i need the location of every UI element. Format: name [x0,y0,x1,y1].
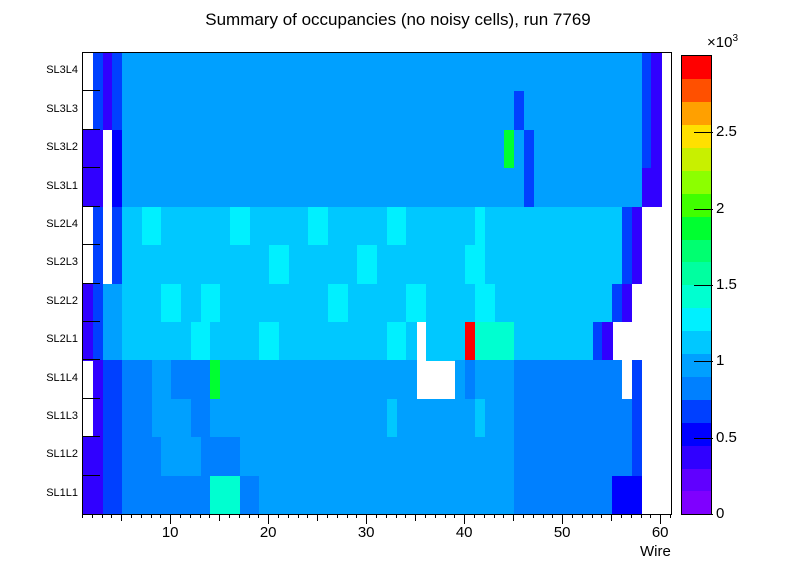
heatmap-cell [240,284,250,323]
color-bar-segment [682,239,711,262]
heatmap-cell [161,284,171,323]
heatmap-cell [279,130,289,169]
heatmap-cell [642,91,652,130]
heatmap-cell [642,168,652,207]
heatmap-cell [632,91,642,130]
heatmap-cell [230,53,240,92]
heatmap-cell [544,360,554,399]
heatmap-cell [495,360,505,399]
heatmap-cell [93,360,103,399]
x-axis-tick [415,515,416,521]
heatmap-cell [299,437,309,476]
heatmap-cell [651,130,661,169]
heatmap-cell [240,322,250,361]
heatmap-cell [142,207,152,246]
heatmap-cell [338,437,348,476]
heatmap-cell [651,53,661,92]
heatmap-cell [308,476,318,515]
heatmap-cell [465,91,475,130]
heatmap-cell [269,168,279,207]
heatmap-cell [514,399,524,438]
x-axis-tick [435,515,436,518]
x-axis-tick [572,515,573,518]
heatmap-cell [328,245,338,284]
heatmap-cell [201,245,211,284]
x-axis-tick [621,515,622,518]
heatmap-cell [152,207,162,246]
heatmap-cell [504,91,514,130]
heatmap-cell [544,207,554,246]
heatmap-cell [112,399,122,438]
x-axis-tick [337,515,338,518]
heatmap-cell [573,53,583,92]
heatmap-cell [534,284,544,323]
x-axis-tick [562,515,563,524]
heatmap-cell [269,360,279,399]
x-axis-tick [523,515,524,518]
heatmap-cell [171,207,181,246]
heatmap-cell [446,245,456,284]
x-axis-tick [660,515,661,524]
heatmap-cell [397,130,407,169]
x-axis-tick [376,515,377,518]
heatmap-cell [299,91,309,130]
heatmap-cell [299,168,309,207]
heatmap-cell [338,207,348,246]
heatmap-cell [602,53,612,92]
heatmap-cell [416,53,426,92]
heatmap-cell [289,207,299,246]
color-bar-segment [682,400,711,423]
heatmap-cell [308,168,318,207]
heatmap-cell [495,207,505,246]
heatmap-cell [475,207,485,246]
heatmap-cell [210,476,220,515]
heatmap-cell [397,245,407,284]
heatmap-cell [367,476,377,515]
heatmap-cell [181,399,191,438]
heatmap-cell [622,207,632,246]
heatmap-cell [328,360,338,399]
heatmap-cell [406,284,416,323]
heatmap-cell [465,399,475,438]
heatmap-cell [387,322,397,361]
heatmap-cell [152,245,162,284]
heatmap-cell [583,476,593,515]
heatmap-cell [377,322,387,361]
heatmap-cell [485,437,495,476]
heatmap-cell [495,245,505,284]
x-axis-tick [209,515,210,518]
heatmap-cell [475,245,485,284]
heatmap-cell [132,322,142,361]
heatmap-cell [573,360,583,399]
heatmap-cell [495,284,505,323]
heatmap-cell [514,437,524,476]
heatmap-cell [132,168,142,207]
heatmap-cell [446,284,456,323]
heatmap-cell [318,130,328,169]
heatmap-cell [455,399,465,438]
x-axis-tick [288,515,289,518]
color-bar-segment [682,468,711,491]
heatmap-cell [181,476,191,515]
heatmap-cell [602,284,612,323]
heatmap-cell [142,399,152,438]
heatmap-cell [269,207,279,246]
heatmap-cell [112,476,122,515]
heatmap-cell [524,207,534,246]
heatmap-cell [367,91,377,130]
x-axis-tick [239,515,240,518]
heatmap-cell [397,284,407,323]
heatmap-cell [563,91,573,130]
heatmap-cell [514,322,524,361]
heatmap-cell [357,360,367,399]
heatmap-cell [544,245,554,284]
heatmap-cell [142,360,152,399]
heatmap-cell [495,399,505,438]
heatmap-cell [269,130,279,169]
heatmap-cell [357,130,367,169]
heatmap-cell [406,130,416,169]
heatmap-cell [142,284,152,323]
heatmap-cell [269,245,279,284]
heatmap-cell [475,284,485,323]
heatmap-cell [348,284,358,323]
heatmap-cell [250,245,260,284]
heatmap-cell [622,399,632,438]
color-bar-tick [694,285,713,286]
heatmap-cell [534,130,544,169]
heatmap-cell [299,476,309,515]
heatmap-cell [426,284,436,323]
heatmap-cell [171,437,181,476]
heatmap-cell [93,476,103,515]
heatmap-cell [250,53,260,92]
heatmap-cell [250,284,260,323]
heatmap-cell [201,168,211,207]
heatmap-cell [318,476,328,515]
heatmap-cell [426,437,436,476]
color-bar-segment [682,285,711,308]
heatmap-cell [524,245,534,284]
heatmap-cell [642,130,652,169]
heatmap-cell [328,437,338,476]
x-axis-tick [650,515,651,518]
heatmap-cell [475,168,485,207]
x-axis-tick [307,515,308,518]
heatmap-cell [485,91,495,130]
heatmap-cell [181,207,191,246]
heatmap-cell [122,245,132,284]
heatmap-cell [495,53,505,92]
heatmap-cell [161,53,171,92]
heatmap-cell [348,476,358,515]
heatmap-cell [220,284,230,323]
x-axis-tick [631,515,632,518]
heatmap-cell [583,437,593,476]
color-bar-segment [682,445,711,468]
heatmap-cell [397,207,407,246]
heatmap-cell [103,437,113,476]
heatmap-cell [534,360,544,399]
x-axis-tick [141,515,142,518]
heatmap-cell [112,207,122,246]
heatmap-cell [152,476,162,515]
heatmap-cell [524,360,534,399]
heatmap-cell [152,168,162,207]
x-axis-tick [170,515,171,524]
heatmap-cell [250,437,260,476]
heatmap-cell [455,437,465,476]
heatmap-cell [161,130,171,169]
heatmap-cell [387,245,397,284]
heatmap-cell [573,322,583,361]
heatmap-cell [210,360,220,399]
heatmap-cell [240,437,250,476]
heatmap-cell [544,130,554,169]
heatmap-cell [455,284,465,323]
heatmap-cell [524,284,534,323]
heatmap-cell [210,53,220,92]
heatmap-cell [269,476,279,515]
heatmap-cell [308,53,318,92]
heatmap-cell [583,168,593,207]
heatmap-cell [230,360,240,399]
heatmap-cell [201,130,211,169]
heatmap-cell [299,207,309,246]
heatmap-cell [632,437,642,476]
heatmap-cell [632,399,642,438]
x-axis-tick [249,515,250,518]
heatmap-cell [593,130,603,169]
heatmap-cell [161,168,171,207]
heatmap-cell [318,284,328,323]
heatmap-cell [152,130,162,169]
heatmap-cell [563,476,573,515]
x-axis-tick-labels: 102030405060 [0,524,796,544]
heatmap-cell [593,322,603,361]
heatmap-cell [250,399,260,438]
heatmap-cell [161,476,171,515]
heatmap-cell [622,168,632,207]
heatmap-cell [642,53,652,92]
heatmap-cell [436,322,446,361]
heatmap-cell [103,399,113,438]
heatmap-cell [279,360,289,399]
heatmap-cell [485,168,495,207]
heatmap-cell [602,322,612,361]
heatmap-cell [338,245,348,284]
y-axis-tick [82,90,100,91]
heatmap-cell [259,437,269,476]
heatmap-cell [377,207,387,246]
heatmap-cell [201,91,211,130]
heatmap-cell [406,322,416,361]
heatmap-cell [279,207,289,246]
heatmap-cell [308,360,318,399]
heatmap-cell [161,91,171,130]
heatmap-cell [240,360,250,399]
heatmap-cell [142,437,152,476]
heatmap-cell [504,130,514,169]
color-bar-tick [694,438,713,439]
heatmap-cell [132,476,142,515]
x-axis-tick [582,515,583,518]
x-axis-tick [229,515,230,518]
heatmap-cell [348,207,358,246]
heatmap-cell [651,91,661,130]
heatmap-cell [112,130,122,169]
heatmap-cell [632,207,642,246]
heatmap-cell [220,437,230,476]
heatmap-cell [504,168,514,207]
x-axis-tick [484,515,485,518]
heatmap-cell [357,476,367,515]
x-axis-tick [219,515,220,521]
heatmap-cell [103,360,113,399]
heatmap-cell [367,53,377,92]
heatmap-cell [377,437,387,476]
heatmap-cell [397,437,407,476]
heatmap-cell [524,399,534,438]
heatmap-cell [338,476,348,515]
heatmap-cell [93,284,103,323]
heatmap-cell [524,53,534,92]
x-axis-tick [670,515,671,518]
y-axis-tick [82,206,100,207]
heatmap-cell [259,360,269,399]
x-axis-tick [102,515,103,518]
heatmap-cell [279,91,289,130]
heatmap-cell [93,91,103,130]
heatmap-cell [544,53,554,92]
heatmap-cell [112,322,122,361]
color-bar-segment [682,171,711,194]
heatmap-cell [475,476,485,515]
heatmap-cell [573,399,583,438]
heatmap-cell [534,245,544,284]
heatmap-cell [563,437,573,476]
heatmap-cell [446,130,456,169]
heatmap-cell [181,168,191,207]
x-axis-tick [278,515,279,518]
heatmap-cell [446,53,456,92]
heatmap-cell [299,360,309,399]
heatmap-cell [122,322,132,361]
heatmap-cell [426,399,436,438]
heatmap-cell [465,284,475,323]
heatmap-cell [485,322,495,361]
color-bar-segment [682,193,711,216]
x-axis-tick [474,515,475,518]
heatmap-cell [132,53,142,92]
heatmap-cell [573,284,583,323]
heatmap-cell [308,284,318,323]
heatmap-cell [289,168,299,207]
heatmap-cell [553,284,563,323]
heatmap-cell [387,476,397,515]
heatmap-cell [465,168,475,207]
heatmap-cell [171,360,181,399]
color-bar-segment [682,377,711,400]
heatmap-cell [240,399,250,438]
heatmap-cell [318,168,328,207]
heatmap-plot-area[interactable] [82,52,672,515]
heatmap-cell [426,130,436,169]
heatmap-cell [524,437,534,476]
heatmap-cell [220,207,230,246]
heatmap-cell [289,476,299,515]
heatmap-cell [426,91,436,130]
heatmap-cell [534,53,544,92]
heatmap-cell [446,207,456,246]
x-axis-tick [121,515,122,521]
x-axis-tick [513,515,514,521]
heatmap-cell [191,399,201,438]
heatmap-cell [406,476,416,515]
heatmap-cell [436,91,446,130]
heatmap-cell [514,284,524,323]
x-axis-tick [151,515,152,518]
heatmap-cell [436,245,446,284]
heatmap-cell [534,168,544,207]
heatmap-cell [602,91,612,130]
heatmap-cell [289,399,299,438]
color-bar-segment [682,331,711,354]
y-axis-label-sl3l4: SL3L4 [16,64,78,76]
heatmap-cell [289,91,299,130]
heatmap-cell [348,168,358,207]
heatmap-cell [171,130,181,169]
heatmap-cell [338,91,348,130]
heatmap-cell [142,130,152,169]
heatmap-cell [142,53,152,92]
heatmap-cell [426,322,436,361]
heatmap-cell [259,53,269,92]
heatmap-cell [426,245,436,284]
heatmap-cell [122,284,132,323]
heatmap-cell [553,360,563,399]
heatmap-cell [299,53,309,92]
heatmap-cell [103,322,113,361]
heatmap-cell [299,284,309,323]
y-axis-label-sl3l3: SL3L3 [16,103,78,115]
heatmap-cell [328,130,338,169]
heatmap-cell [279,476,289,515]
heatmap-cell [83,437,93,476]
x-axis-tick [543,515,544,518]
heatmap-cell [651,168,661,207]
color-bar-segment [682,102,711,125]
heatmap-cell [132,399,142,438]
heatmap-cell [210,245,220,284]
heatmap-cell [318,399,328,438]
heatmap-cell [93,53,103,92]
y-axis-tick [82,398,100,399]
heatmap-cell [602,168,612,207]
heatmap-cell [289,130,299,169]
heatmap-cell [122,130,132,169]
heatmap-cell [465,207,475,246]
heatmap-cell [83,284,93,323]
heatmap-cell [632,130,642,169]
heatmap-cell [171,322,181,361]
heatmap-cell [83,322,93,361]
heatmap-cell [328,91,338,130]
heatmap-cell [367,168,377,207]
